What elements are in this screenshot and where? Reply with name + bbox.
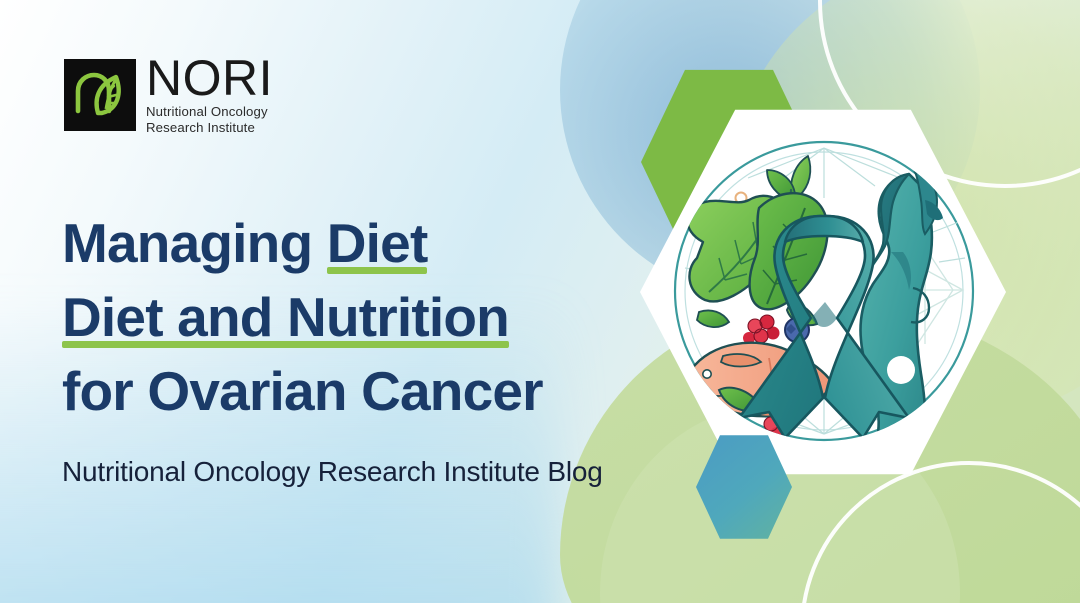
- nori-tagline: Nutritional Oncology Research Institute: [146, 104, 273, 135]
- ovarian-cancer-nutrition-illustration: [663, 112, 985, 470]
- nori-wordmark: NORI: [146, 55, 273, 101]
- headline-line-2-highlight: Diet and Nutrition: [62, 280, 509, 354]
- nori-logo[interactable]: NORI Nutritional Oncology Research Insti…: [64, 54, 273, 135]
- headline-line-3: for Ovarian Cancer: [62, 354, 682, 428]
- headline-line-1-highlight: Diet: [327, 206, 428, 280]
- nori-tagline-line-1: Nutritional Oncology: [146, 104, 273, 120]
- headline-line-1-prefix: Managing: [62, 212, 327, 274]
- nori-logo-text: NORI Nutritional Oncology Research Insti…: [146, 54, 273, 135]
- headline-line-1: Managing Diet: [62, 206, 682, 280]
- blueberry-icon: [725, 420, 749, 444]
- nori-leaf-icon: [64, 59, 136, 131]
- ovary-highlight-dot: [887, 356, 915, 384]
- page-title: Managing Diet Diet and Nutrition for Ova…: [62, 206, 682, 428]
- nori-tagline-line-2: Research Institute: [146, 120, 273, 136]
- headline-line-2: Diet and Nutrition: [62, 280, 682, 354]
- page-subtitle: Nutritional Oncology Research Institute …: [62, 452, 603, 492]
- blog-hero-banner: NORI Nutritional Oncology Research Insti…: [0, 0, 1080, 603]
